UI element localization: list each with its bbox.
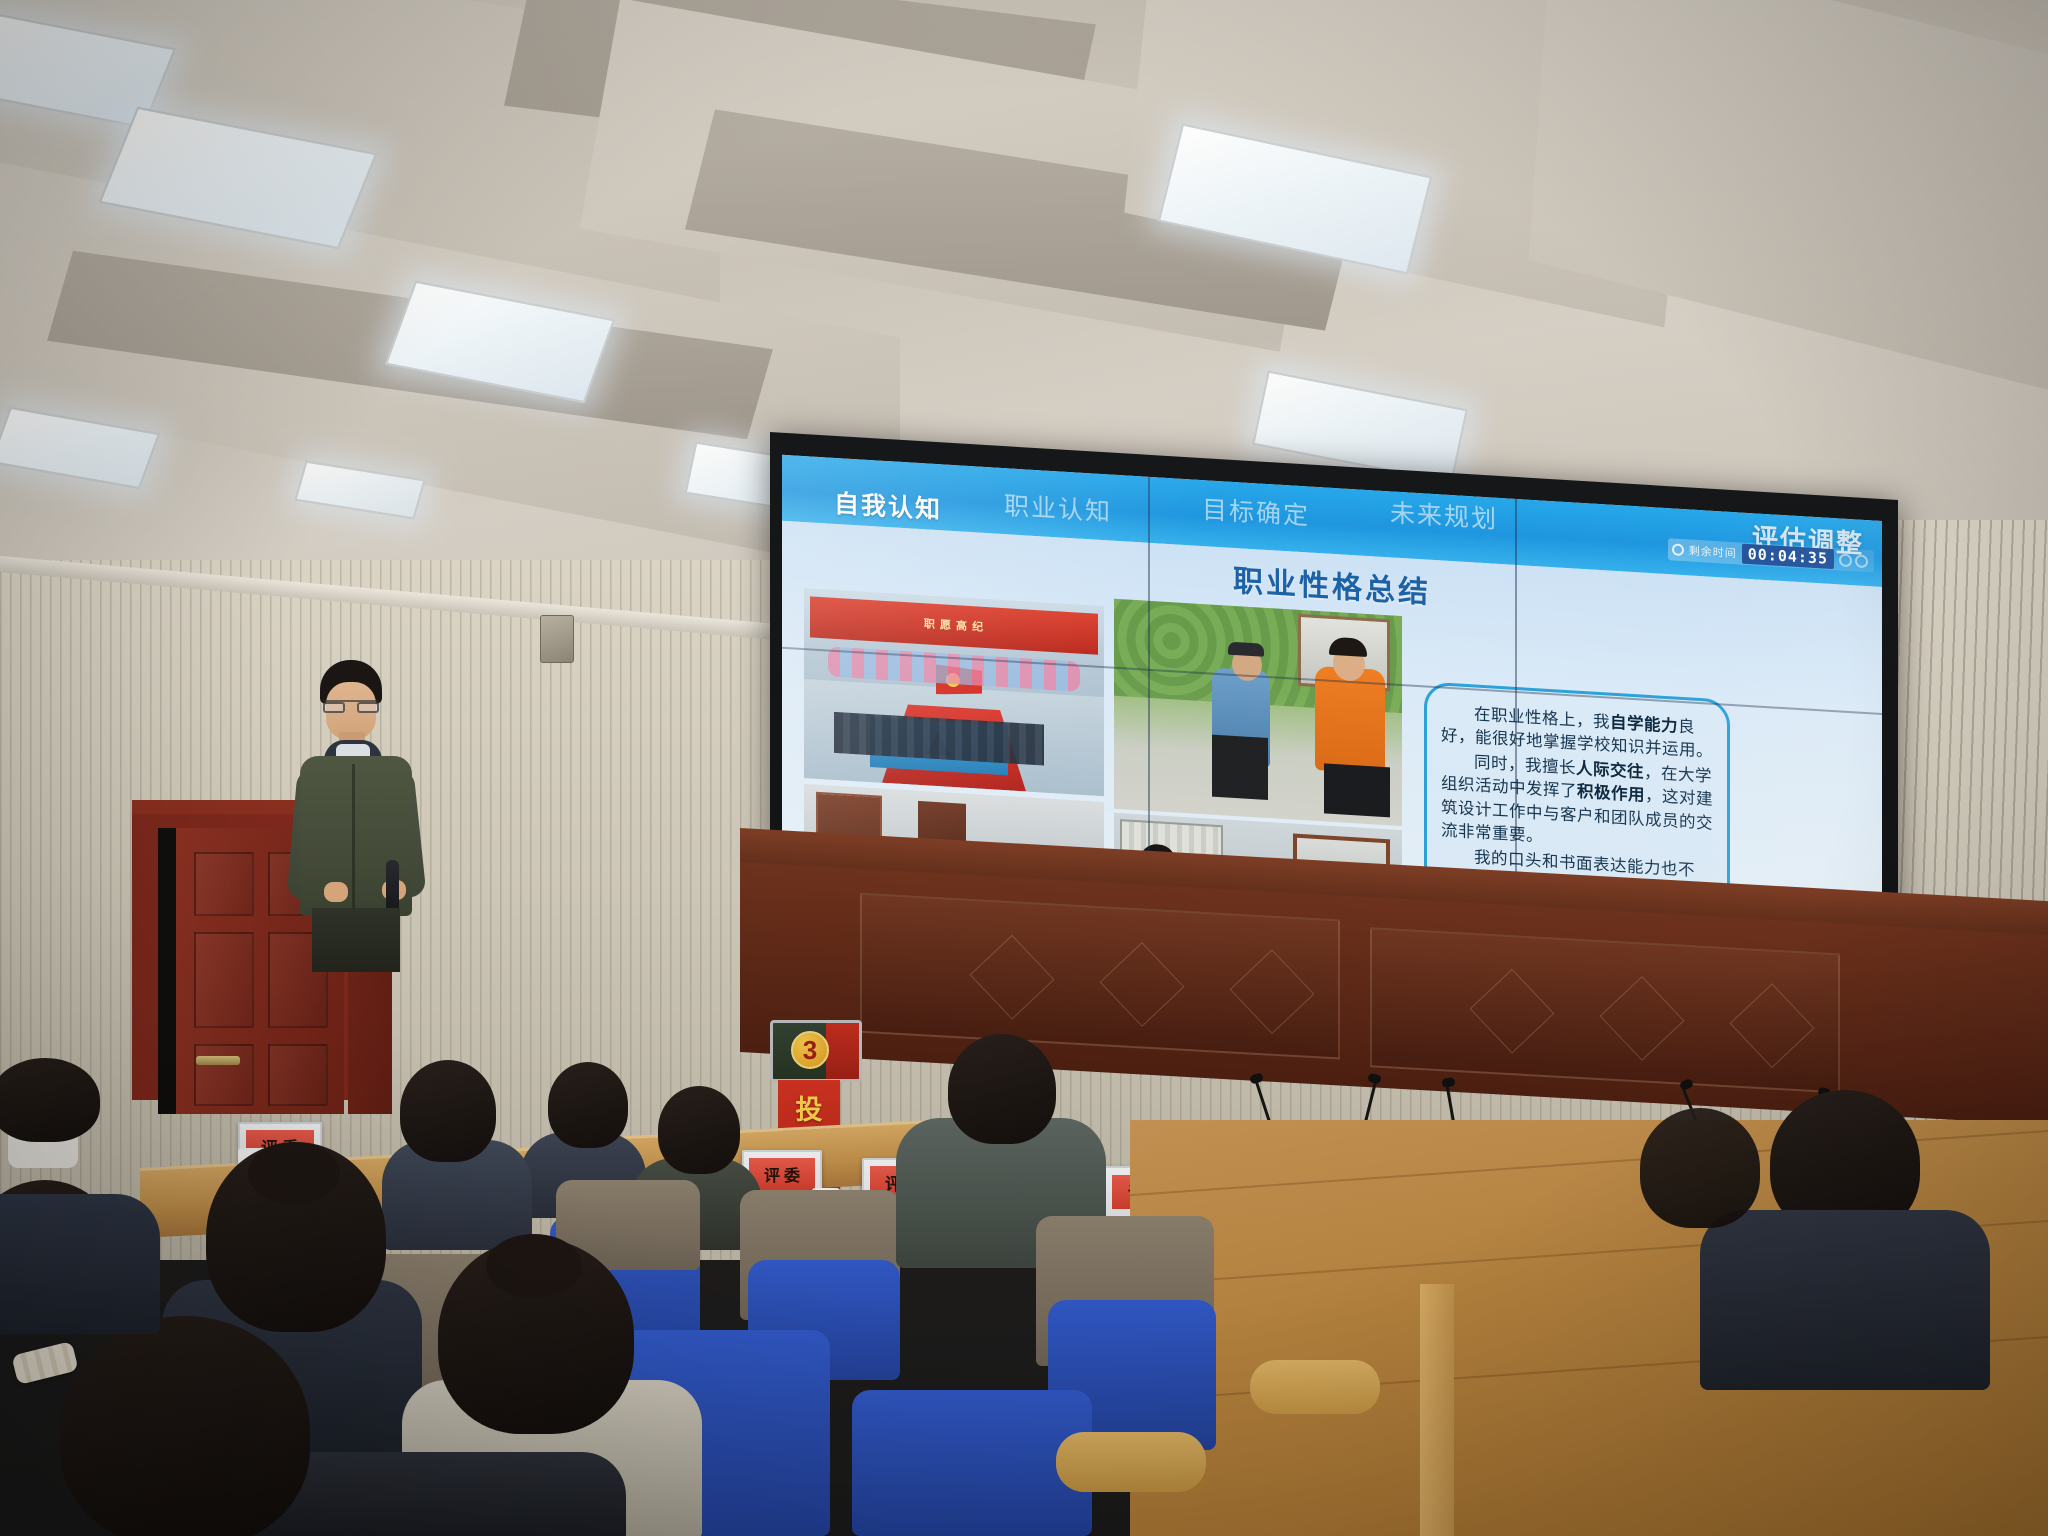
glasses-lens-right <box>357 702 379 713</box>
audience-head-11 <box>1640 1108 1760 1228</box>
callout-run-1b: 自学能力 <box>1610 714 1678 736</box>
conference-room-scene: 自我认知 职业认知 目标确定 未来规划 评估调整 剩余时间 00:04:35 <box>0 0 2048 1536</box>
podium-inset-1 <box>860 893 1340 1060</box>
audience-hair-bun-1 <box>248 1142 340 1204</box>
door-gap <box>158 828 176 1114</box>
timer-decor-rings <box>1839 553 1868 568</box>
hair-clip <box>11 1341 78 1385</box>
podium-diamond-3 <box>1230 949 1315 1034</box>
door-panel-ml <box>194 932 254 1028</box>
nameplate-2-text: 评 委 <box>749 1158 814 1190</box>
wall-speaker <box>540 615 574 663</box>
callout-run-2d: 积极作用 <box>1577 783 1645 805</box>
callout-run-2b: 人际交往 <box>1576 759 1644 781</box>
nav-tab-goal-setting[interactable]: 目标确定 <box>1202 490 1310 533</box>
nav-tab-future-planning[interactable]: 未来规划 <box>1390 493 1498 536</box>
banner-char-1: 职 愿 高 纪 <box>924 616 984 636</box>
callout-run-2a: 同时，我擅长 <box>1474 753 1576 777</box>
handheld-microphone[interactable] <box>386 860 399 914</box>
nameplate-2-char-2: 委 <box>784 1162 800 1186</box>
chair-armrest-2 <box>1056 1432 1206 1492</box>
ballot-box-red-side <box>826 1023 859 1079</box>
audience-hair-bun-2 <box>486 1234 582 1298</box>
elderly-man-trousers <box>1212 735 1268 800</box>
timer-label: 剩余时间 <box>1689 542 1737 561</box>
audience-head-4 <box>400 1060 496 1162</box>
audience-head-2 <box>658 1086 740 1174</box>
door-panel-tl <box>194 852 254 916</box>
ring-icon-1 <box>1839 553 1852 567</box>
table-leg <box>1420 1284 1454 1536</box>
callout-paragraph-2: 同时，我擅长人际交往，在大学组织活动中发挥了积极作用，这对建筑设计工作中与客户和… <box>1441 749 1713 859</box>
photo-banner-text: 职 愿 高 纪 <box>810 596 1098 655</box>
photo-elderly-visit <box>1114 599 1402 826</box>
audience-shoulders-8 <box>0 1194 160 1334</box>
audience-head-3 <box>948 1034 1056 1144</box>
ring-icon-2 <box>1855 554 1868 568</box>
callout-run-1a: 在职业性格上，我 <box>1474 705 1610 731</box>
screen-display-area: 自我认知 职业认知 目标确定 未来规划 评估调整 剩余时间 00:04:35 <box>782 455 1882 905</box>
glasses-lens-left <box>323 702 345 713</box>
audience-shoulders-9 <box>1700 1210 1990 1390</box>
podium-inset-2 <box>1370 927 1840 1093</box>
elderly-man-cap <box>1228 641 1264 656</box>
podium-diamond-4 <box>1470 969 1555 1054</box>
presenter-legs <box>312 908 400 972</box>
presenter-glasses <box>323 700 379 711</box>
door-panel-bl <box>194 1044 254 1106</box>
presenter <box>286 660 426 960</box>
ceiling-coffer-far-right <box>1528 0 2048 400</box>
ballot-box-number: 3 <box>791 1031 829 1069</box>
ballot-box-case: 3 <box>770 1020 862 1082</box>
presenter-jacket-zipper <box>352 764 355 914</box>
clock-icon <box>1672 543 1684 556</box>
timer-value: 00:04:35 <box>1742 544 1834 570</box>
podium-diamond-1 <box>970 935 1055 1020</box>
ballot-char-1: 投 <box>796 1088 823 1127</box>
podium-diamond-5 <box>1600 976 1685 1061</box>
chair-armrest-1 <box>1250 1360 1380 1414</box>
podium-diamond-2 <box>1100 942 1185 1027</box>
nav-tab-self-cognition[interactable]: 自我认知 <box>834 484 942 527</box>
volunteer-shorts <box>1324 763 1390 817</box>
door-handle[interactable] <box>196 1056 240 1065</box>
audience-head-7 <box>60 1316 310 1536</box>
audience-head-1 <box>548 1062 628 1148</box>
audience-head-9 <box>0 1058 100 1142</box>
podium-diamond-6 <box>1730 983 1815 1068</box>
presenter-left-hand <box>324 882 348 902</box>
photo-graduation-ceremony: 职 愿 高 纪 <box>804 588 1104 796</box>
nameplate-2-char-1: 评 <box>764 1162 780 1186</box>
door-panel-br <box>268 1044 328 1106</box>
nav-tab-career-cognition[interactable]: 职业认知 <box>1004 486 1112 529</box>
